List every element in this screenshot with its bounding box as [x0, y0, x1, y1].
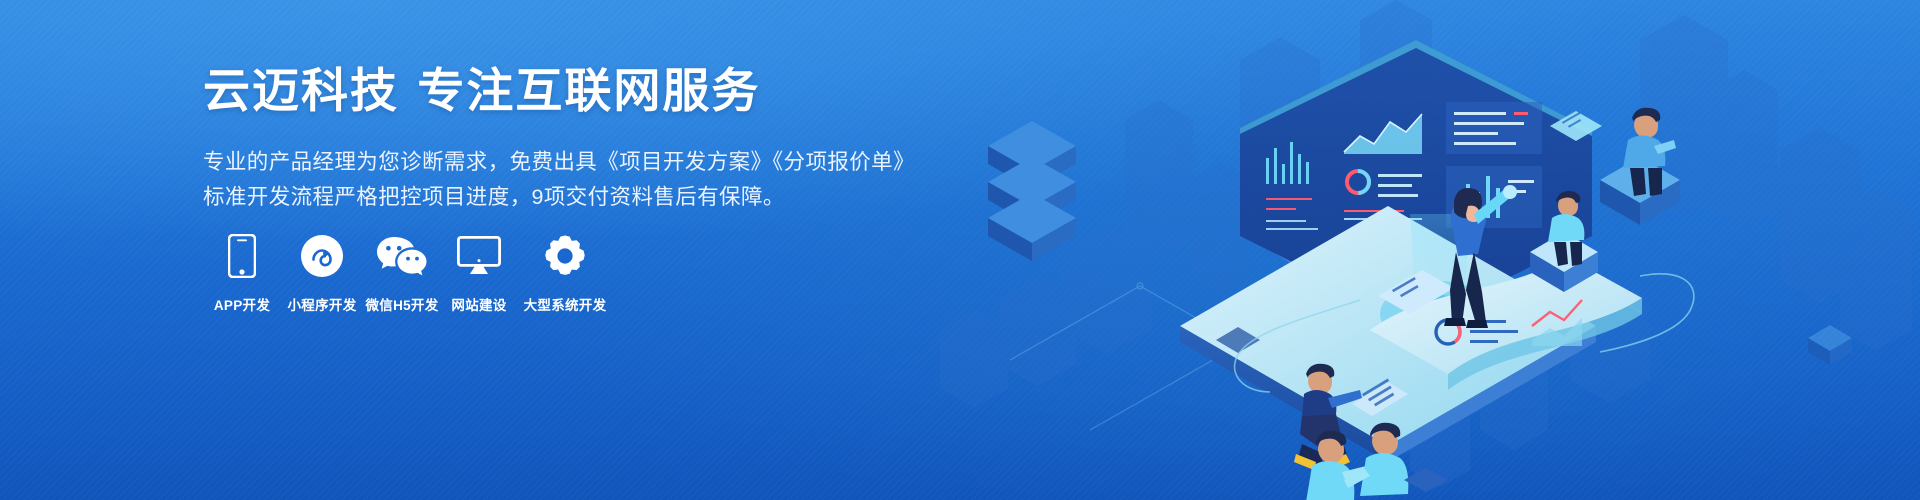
service-label: 微信H5开发: [365, 294, 438, 314]
service-item-wechat-h5[interactable]: 微信H5开发: [363, 233, 441, 314]
wechat-chat-icon: [376, 233, 428, 279]
gear-icon: [543, 233, 587, 279]
service-item-mini-program[interactable]: 小程序开发: [283, 233, 361, 314]
service-label: APP开发: [214, 294, 270, 314]
subtitle-line-1: 专业的产品经理为您诊断需求，免费出具《项目开发方案》《分项报价单》: [203, 145, 963, 180]
page-title: 云迈科技 专注互联网服务: [203, 64, 963, 119]
subtitle-list: 专业的产品经理为您诊断需求，免费出具《项目开发方案》《分项报价单》 标准开发流程…: [203, 145, 963, 215]
service-label: 网站建设: [451, 294, 506, 314]
desktop-monitor-icon: [457, 233, 501, 279]
service-label: 小程序开发: [288, 294, 357, 314]
service-item-app[interactable]: APP开发: [203, 233, 281, 314]
mobile-phone-icon: [228, 233, 256, 279]
service-item-large-system[interactable]: 大型系统开发: [517, 233, 613, 314]
promo-banner: 云迈科技 专注互联网服务 专业的产品经理为您诊断需求，免费出具《项目开发方案》《…: [0, 0, 1920, 500]
subtitle-line-2: 标准开发流程严格把控项目进度，9项交付资料售后有保障。: [203, 180, 963, 215]
service-item-website[interactable]: 网站建设: [443, 233, 515, 314]
service-label: 大型系统开发: [524, 294, 607, 314]
copy-block: 云迈科技 专注互联网服务 专业的产品经理为您诊断需求，免费出具《项目开发方案》《…: [203, 64, 963, 215]
mini-program-icon: [300, 233, 344, 279]
service-list: APP开发 小程序开发: [203, 233, 615, 314]
isometric-data-dashboard-illustration: [940, 0, 1920, 500]
server-stack: [988, 121, 1076, 261]
